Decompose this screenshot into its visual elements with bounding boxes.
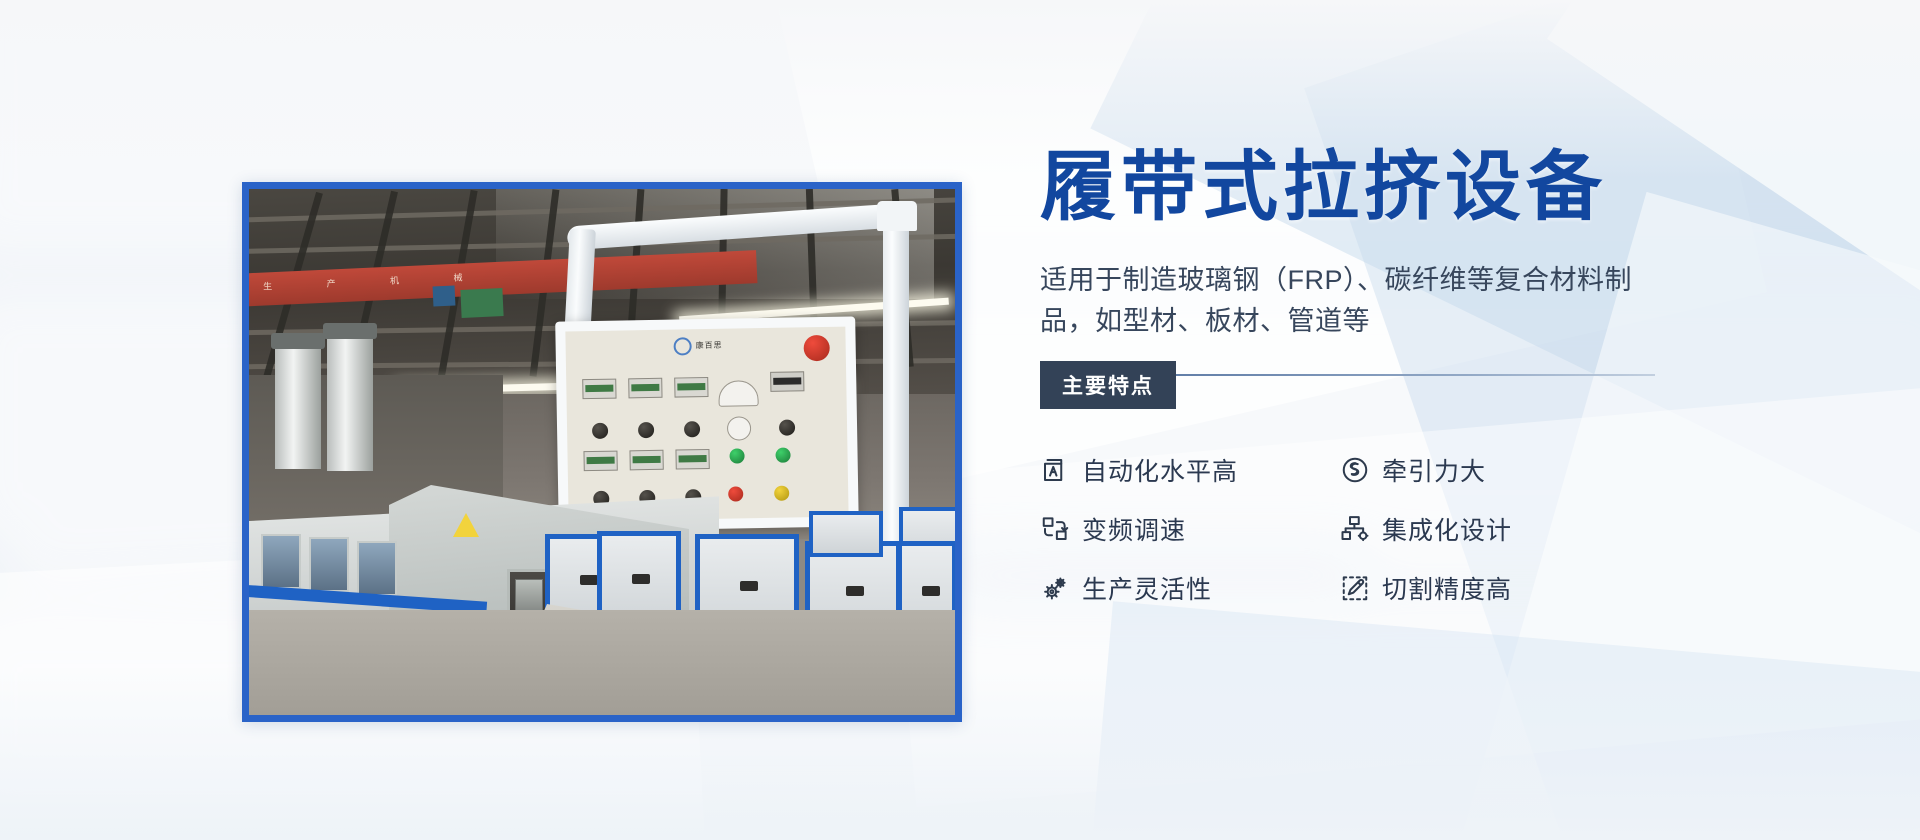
feature-label: 变频调速 — [1082, 511, 1186, 547]
feature-item: 生产灵活性 — [1040, 558, 1340, 617]
automation-a-icon — [1040, 453, 1082, 487]
integration-hierarchy-icon-row: 集成化设计 — [1340, 499, 1640, 558]
product-photo-frame: 生 产 机 械 康百思 — [242, 182, 962, 722]
feature-label: 生产灵活性 — [1082, 570, 1212, 606]
feature-item: 变频调速 — [1040, 499, 1340, 558]
feature-item: 牵引力大 — [1340, 440, 1640, 499]
product-hero-banner: 生 产 机 械 康百思 — [0, 0, 1920, 840]
feature-item: 自动化水平高 — [1040, 440, 1340, 499]
traction-wave-icon — [1340, 453, 1382, 487]
feature-list: 自动化水平高 牵引力大 — [1040, 440, 1680, 617]
feature-label: 集成化设计 — [1382, 511, 1512, 547]
feature-item: 切割精度高 — [1340, 558, 1640, 617]
product-description: 适用于制造玻璃钢（FRP）、碳纤维等复合材料制品，如型材、板材、管道等 — [1040, 260, 1660, 342]
cut-precision-pen-icon — [1340, 571, 1382, 605]
main-features-badge: 主要特点 — [1040, 361, 1176, 409]
section-divider-wrap: 主要特点 — [1040, 366, 1680, 412]
feature-label: 牵引力大 — [1382, 452, 1486, 488]
hero-text-column: 履带式拉挤设备 适用于制造玻璃钢（FRP）、碳纤维等复合材料制品，如型材、板材、… — [1040, 150, 1680, 617]
frequency-node-icon — [1040, 512, 1082, 546]
integration-hierarchy-icon — [1340, 512, 1382, 546]
page-title: 履带式拉挤设备 — [1040, 150, 1680, 226]
product-photo: 生 产 机 械 康百思 — [249, 189, 955, 715]
gears-icon — [1040, 571, 1082, 605]
feature-label: 切割精度高 — [1382, 570, 1512, 606]
feature-label: 自动化水平高 — [1082, 452, 1238, 488]
